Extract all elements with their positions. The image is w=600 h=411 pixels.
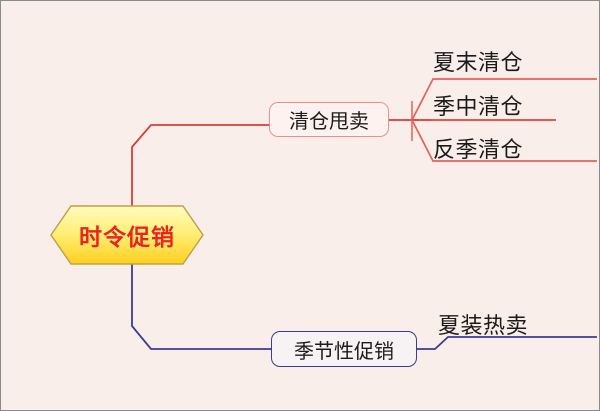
connector-root-to-clearance — [132, 125, 269, 207]
leaf-late-summer[interactable]: 夏末清仓 — [433, 45, 523, 77]
branch-node-seasonal[interactable]: 季节性促销 — [271, 331, 417, 367]
leaf-mid-season[interactable]: 季中清仓 — [433, 89, 523, 121]
root-node[interactable]: 时令促销 — [49, 204, 205, 266]
mindmap-canvas: 时令促销 清仓甩卖 季节性促销 夏末清仓 季中清仓 反季清仓 夏装热卖 — [0, 0, 600, 411]
leaf-late-summer-label: 夏末清仓 — [433, 50, 523, 75]
leaf-off-season-label: 反季清仓 — [433, 137, 523, 162]
branch-node-seasonal-label: 季节性促销 — [294, 335, 394, 364]
branch-node-clearance[interactable]: 清仓甩卖 — [269, 102, 389, 137]
branch-node-clearance-label: 清仓甩卖 — [289, 105, 369, 134]
leaf-mid-season-label: 季中清仓 — [433, 94, 523, 119]
leaf-off-season[interactable]: 反季清仓 — [433, 132, 523, 164]
connector-root-to-seasonal — [132, 263, 271, 349]
leaf-summer-hot[interactable]: 夏装热卖 — [438, 308, 528, 340]
leaf-summer-hot-label: 夏装热卖 — [438, 313, 528, 338]
root-node-label: 时令促销 — [49, 204, 205, 266]
